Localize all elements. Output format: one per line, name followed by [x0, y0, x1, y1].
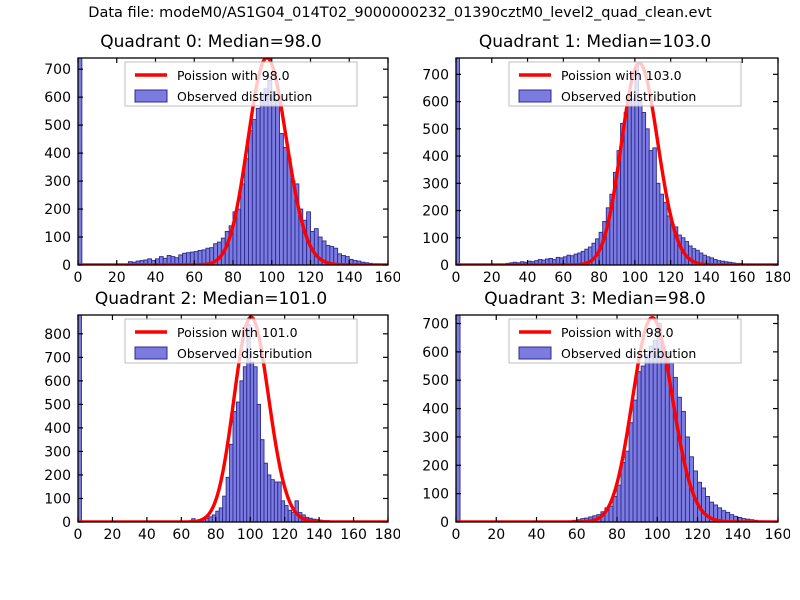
svg-text:180: 180	[375, 527, 400, 543]
svg-text:100: 100	[237, 527, 264, 543]
svg-text:400: 400	[422, 149, 449, 165]
legend-label: Observed distribution	[177, 89, 312, 104]
quadrant-0-title: Quadrant 0: Median=98.0	[22, 32, 400, 52]
svg-text:700: 700	[44, 62, 71, 78]
svg-text:120: 120	[684, 527, 711, 543]
subplot-quadrant-0: Quadrant 0: Median=98.002040608010012014…	[22, 30, 400, 295]
legend: Poission with 98.0Observed distribution	[125, 62, 357, 106]
svg-text:400: 400	[44, 146, 71, 162]
svg-text:200: 200	[44, 468, 71, 484]
svg-text:80: 80	[608, 527, 626, 543]
svg-text:0: 0	[452, 270, 461, 286]
svg-text:0: 0	[440, 258, 449, 274]
svg-text:120: 120	[297, 270, 324, 286]
svg-text:160: 160	[375, 270, 400, 286]
legend-label: Observed distribution	[561, 89, 696, 104]
svg-text:140: 140	[693, 270, 720, 286]
legend-label: Poission with 98.0	[177, 68, 290, 83]
svg-text:700: 700	[422, 317, 449, 333]
svg-text:40: 40	[138, 527, 156, 543]
svg-text:200: 200	[422, 204, 449, 220]
svg-text:80: 80	[224, 270, 242, 286]
svg-text:60: 60	[172, 527, 190, 543]
svg-text:100: 100	[44, 230, 71, 246]
quadrant-1-plot: 0204060801001201401601800100200300400500…	[400, 30, 790, 295]
svg-text:140: 140	[336, 270, 363, 286]
svg-text:0: 0	[74, 270, 83, 286]
legend-label: Observed distribution	[177, 346, 312, 361]
svg-text:0: 0	[62, 515, 71, 531]
svg-text:120: 120	[657, 270, 684, 286]
legend-label: Poission with 101.0	[177, 325, 298, 340]
svg-text:800: 800	[44, 327, 71, 343]
quadrant-3-plot: 0204060801001201401600100200300400500600…	[400, 287, 790, 552]
svg-text:300: 300	[44, 174, 71, 190]
legend-label: Poission with 103.0	[561, 68, 682, 83]
svg-text:120: 120	[271, 527, 298, 543]
svg-text:20: 20	[104, 527, 122, 543]
legend-patch-swatch	[135, 347, 167, 359]
svg-text:300: 300	[422, 176, 449, 192]
svg-text:200: 200	[422, 458, 449, 474]
quadrant-1-title: Quadrant 1: Median=103.0	[400, 32, 790, 52]
matplotlib-figure: Data file: modeM0/AS1G04_014T02_90000002…	[0, 0, 800, 600]
svg-text:100: 100	[644, 527, 671, 543]
svg-text:0: 0	[440, 515, 449, 531]
svg-text:200: 200	[44, 202, 71, 218]
svg-text:600: 600	[422, 345, 449, 361]
svg-text:180: 180	[765, 270, 790, 286]
svg-text:100: 100	[44, 491, 71, 507]
quadrant-0-plot: 0204060801001201401600100200300400500600…	[22, 30, 400, 295]
svg-text:600: 600	[422, 95, 449, 111]
svg-text:20: 20	[487, 527, 505, 543]
legend-patch-swatch	[519, 347, 551, 359]
svg-text:300: 300	[422, 430, 449, 446]
svg-text:600: 600	[44, 374, 71, 390]
legend-label: Observed distribution	[561, 346, 696, 361]
svg-text:80: 80	[590, 270, 608, 286]
svg-text:500: 500	[422, 373, 449, 389]
svg-text:60: 60	[568, 527, 586, 543]
svg-text:700: 700	[422, 67, 449, 83]
svg-text:400: 400	[422, 402, 449, 418]
svg-text:160: 160	[729, 270, 756, 286]
subplot-quadrant-1: Quadrant 1: Median=103.00204060801001201…	[400, 30, 790, 295]
svg-text:160: 160	[340, 527, 367, 543]
legend-label: Poission with 98.0	[561, 325, 674, 340]
svg-text:100: 100	[422, 487, 449, 503]
svg-text:160: 160	[765, 527, 790, 543]
svg-text:500: 500	[44, 118, 71, 134]
svg-text:400: 400	[44, 421, 71, 437]
svg-text:100: 100	[622, 270, 649, 286]
svg-text:0: 0	[74, 527, 83, 543]
svg-text:700: 700	[44, 350, 71, 366]
svg-text:500: 500	[44, 397, 71, 413]
svg-text:60: 60	[554, 270, 572, 286]
svg-text:300: 300	[44, 444, 71, 460]
svg-text:600: 600	[44, 90, 71, 106]
svg-text:20: 20	[108, 270, 126, 286]
svg-text:80: 80	[207, 527, 225, 543]
legend-patch-swatch	[135, 90, 167, 102]
svg-text:100: 100	[422, 231, 449, 247]
svg-text:20: 20	[483, 270, 501, 286]
svg-text:0: 0	[452, 527, 461, 543]
svg-text:60: 60	[185, 270, 203, 286]
legend: Poission with 98.0Observed distribution	[509, 319, 741, 363]
quadrant-2-title: Quadrant 2: Median=101.0	[22, 289, 400, 309]
quadrant-2-plot: 0204060801001201401601800100200300400500…	[22, 287, 400, 552]
svg-text:40: 40	[519, 270, 537, 286]
quadrant-3-title: Quadrant 3: Median=98.0	[400, 289, 790, 309]
figure-suptitle: Data file: modeM0/AS1G04_014T02_90000002…	[0, 5, 800, 21]
subplot-quadrant-2: Quadrant 2: Median=101.00204060801001201…	[22, 287, 400, 552]
svg-text:140: 140	[724, 527, 751, 543]
svg-text:140: 140	[306, 527, 333, 543]
legend: Poission with 103.0Observed distribution	[509, 62, 741, 106]
svg-text:100: 100	[258, 270, 285, 286]
legend: Poission with 101.0Observed distribution	[125, 319, 357, 363]
subplot-quadrant-3: Quadrant 3: Median=98.002040608010012014…	[400, 287, 790, 552]
svg-text:40: 40	[147, 270, 165, 286]
svg-text:40: 40	[528, 527, 546, 543]
legend-patch-swatch	[519, 90, 551, 102]
svg-text:500: 500	[422, 122, 449, 138]
svg-text:0: 0	[62, 258, 71, 274]
